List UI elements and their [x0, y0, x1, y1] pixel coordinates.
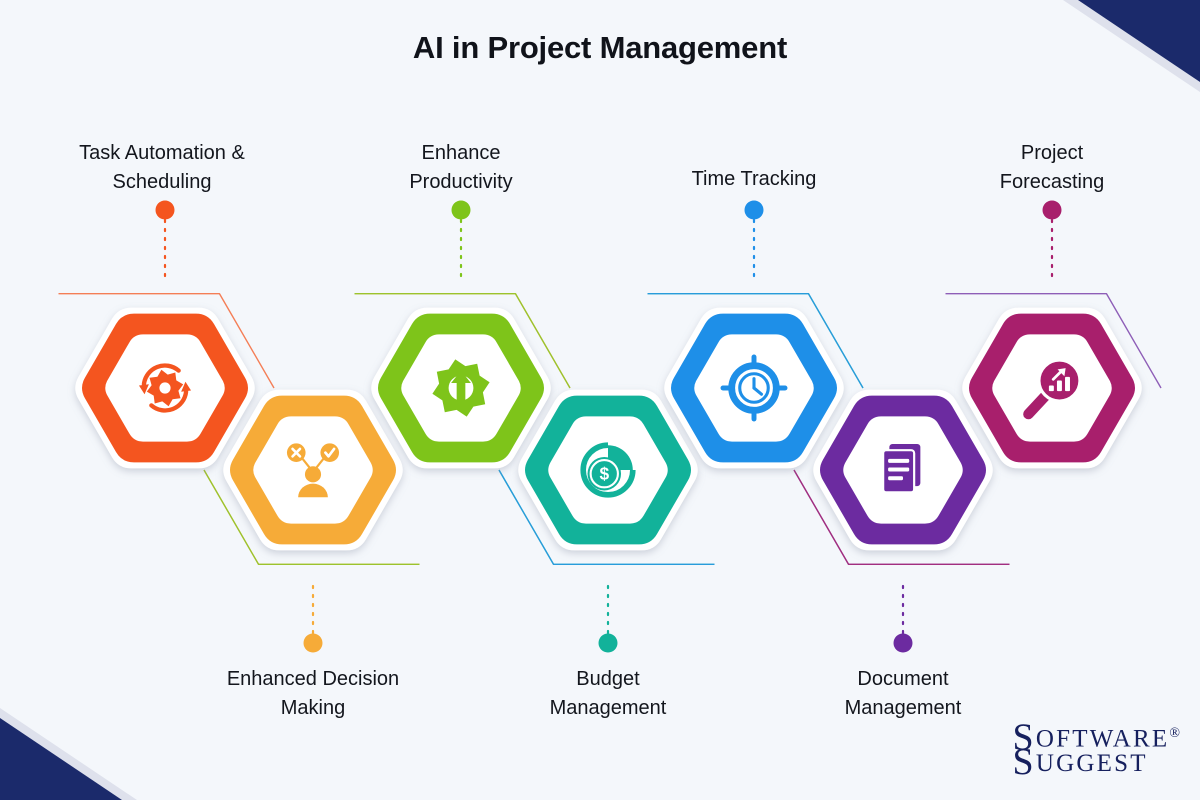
hexagon-node-task-automation-scheduling	[75, 308, 255, 469]
logo-rest-1: OFTWARE	[1036, 725, 1169, 752]
node-label-project-forecasting: Project Forecasting	[892, 139, 1200, 197]
node-dot	[304, 634, 323, 653]
node-label-enhanced-decision-making: Enhanced Decision Making	[153, 665, 473, 723]
node-dot	[1043, 201, 1062, 220]
node-label-time-tracking: Time Tracking	[594, 165, 914, 194]
infographic-canvas: AI in Project Management $ Task Automati…	[0, 0, 1200, 800]
documents-stack-icon	[883, 444, 920, 492]
hexagon-node-time-tracking	[664, 308, 844, 469]
hexagon-node-project-forecasting	[962, 308, 1142, 469]
logo-line-1: SOFTWARE®	[1013, 727, 1180, 752]
hexagon-node-enhanced-decision-making	[223, 390, 403, 551]
node-dot	[452, 201, 471, 220]
node-dot	[599, 634, 618, 653]
registered-mark: ®	[1169, 726, 1180, 741]
node-label-budget-management: Budget Management	[448, 665, 768, 723]
node-label-document-management: Document Management	[743, 665, 1063, 723]
node-dot	[745, 201, 764, 220]
logo-rest-2: UGGEST	[1036, 750, 1148, 777]
logo-cap-2: S	[1013, 741, 1036, 783]
node-label-task-automation-scheduling: Task Automation & Scheduling	[2, 139, 322, 197]
pie-dollar-icon: $	[583, 445, 633, 495]
hexagon-node-document-management	[813, 390, 993, 551]
node-label-enhance-productivity: Enhance Productivity	[301, 139, 621, 197]
node-dot	[156, 201, 175, 220]
hexagon-node-enhance-productivity	[371, 308, 551, 469]
node-dot	[894, 634, 913, 653]
svg-text:$: $	[599, 463, 609, 483]
brand-logo: SOFTWARE® SUGGEST	[1013, 727, 1180, 776]
hexagon-node-budget-management: $	[518, 390, 698, 551]
logo-line-2: SUGGEST	[1013, 752, 1180, 777]
